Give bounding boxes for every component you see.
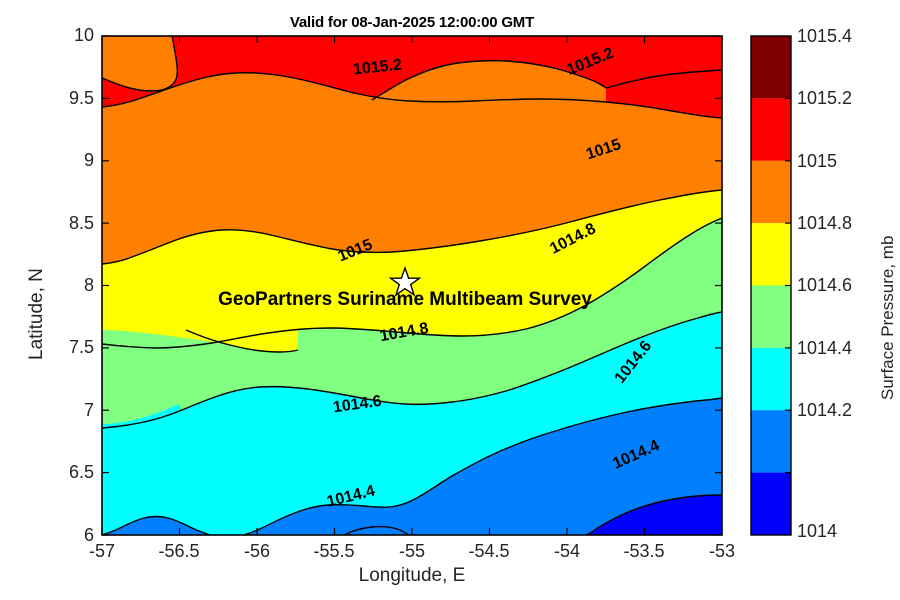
colorbar-tick-label-1014.4: 1014.4 [797,338,852,359]
site-label: GeoPartners Suriname Multibeam Survey [218,289,592,310]
colorbar-swatch-1014.4-1014.6 [751,286,791,348]
x-tick-label--57: -57 [62,541,142,562]
x-tick-label--53.5: -53.5 [604,541,684,562]
x-tick-label--55: -55 [372,541,452,562]
contour-plot-svg: GeoPartners Suriname Multibeam Survey 10… [0,0,900,600]
colorbar-swatch-1014.8-1015.0 [751,161,791,223]
y-tick-label-6.5: 6.5 [50,462,94,483]
colorbar-tick-label-1015.4: 1015.4 [797,26,852,47]
colorbar-swatch-1014.0-1014.2 [751,410,791,472]
y-tick-label-8: 8 [50,275,94,296]
colorbar-group[interactable] [751,36,791,535]
colorbar-tick-label-1014.2: 1014.2 [797,400,852,421]
colorbar-swatch-1014.2-1014.4 [751,348,791,410]
x-tick-label--54.5: -54.5 [449,541,529,562]
x-tick-label--54: -54 [527,541,607,562]
colorbar-swatch-base [751,473,791,535]
colorbar-axis-label: Surface Pressure, mb [878,236,898,400]
y-axis-label: Latitude, N [26,268,48,360]
x-tick-label--53: -53 [682,541,762,562]
colorbar-tick-label-1014.6: 1014.6 [797,275,852,296]
y-tick-label-10: 10 [50,25,94,46]
x-tick-label--56: -56 [217,541,297,562]
x-axis-label: Longitude, E [102,565,722,587]
y-tick-label-7: 7 [50,400,94,421]
y-tick-label-9: 9 [50,150,94,171]
x-tick-label--56.5: -56.5 [139,541,219,562]
y-tick-label-8.5: 8.5 [50,213,94,234]
colorbar-swatch-1014.6-1014.8 [751,223,791,285]
colorbar-tick-label-1015: 1015 [797,151,837,172]
x-tick-label--55.5: -55.5 [294,541,374,562]
colorbar-tick-label-1014: 1014 [797,521,837,542]
y-tick-label-9.5: 9.5 [50,88,94,109]
colorbar-swatch-1015.2-1015.4 [751,36,791,98]
colorbar-swatch-1015.0-1015.2 [751,98,791,160]
colorbar-tick-label-1015.2: 1015.2 [797,88,852,109]
colorbar-tick-label-1014.8: 1014.8 [797,213,852,234]
y-tick-label-7.5: 7.5 [50,337,94,358]
figure-root: Valid for 08-Jan-2025 12:00:00 GMT [0,0,900,600]
